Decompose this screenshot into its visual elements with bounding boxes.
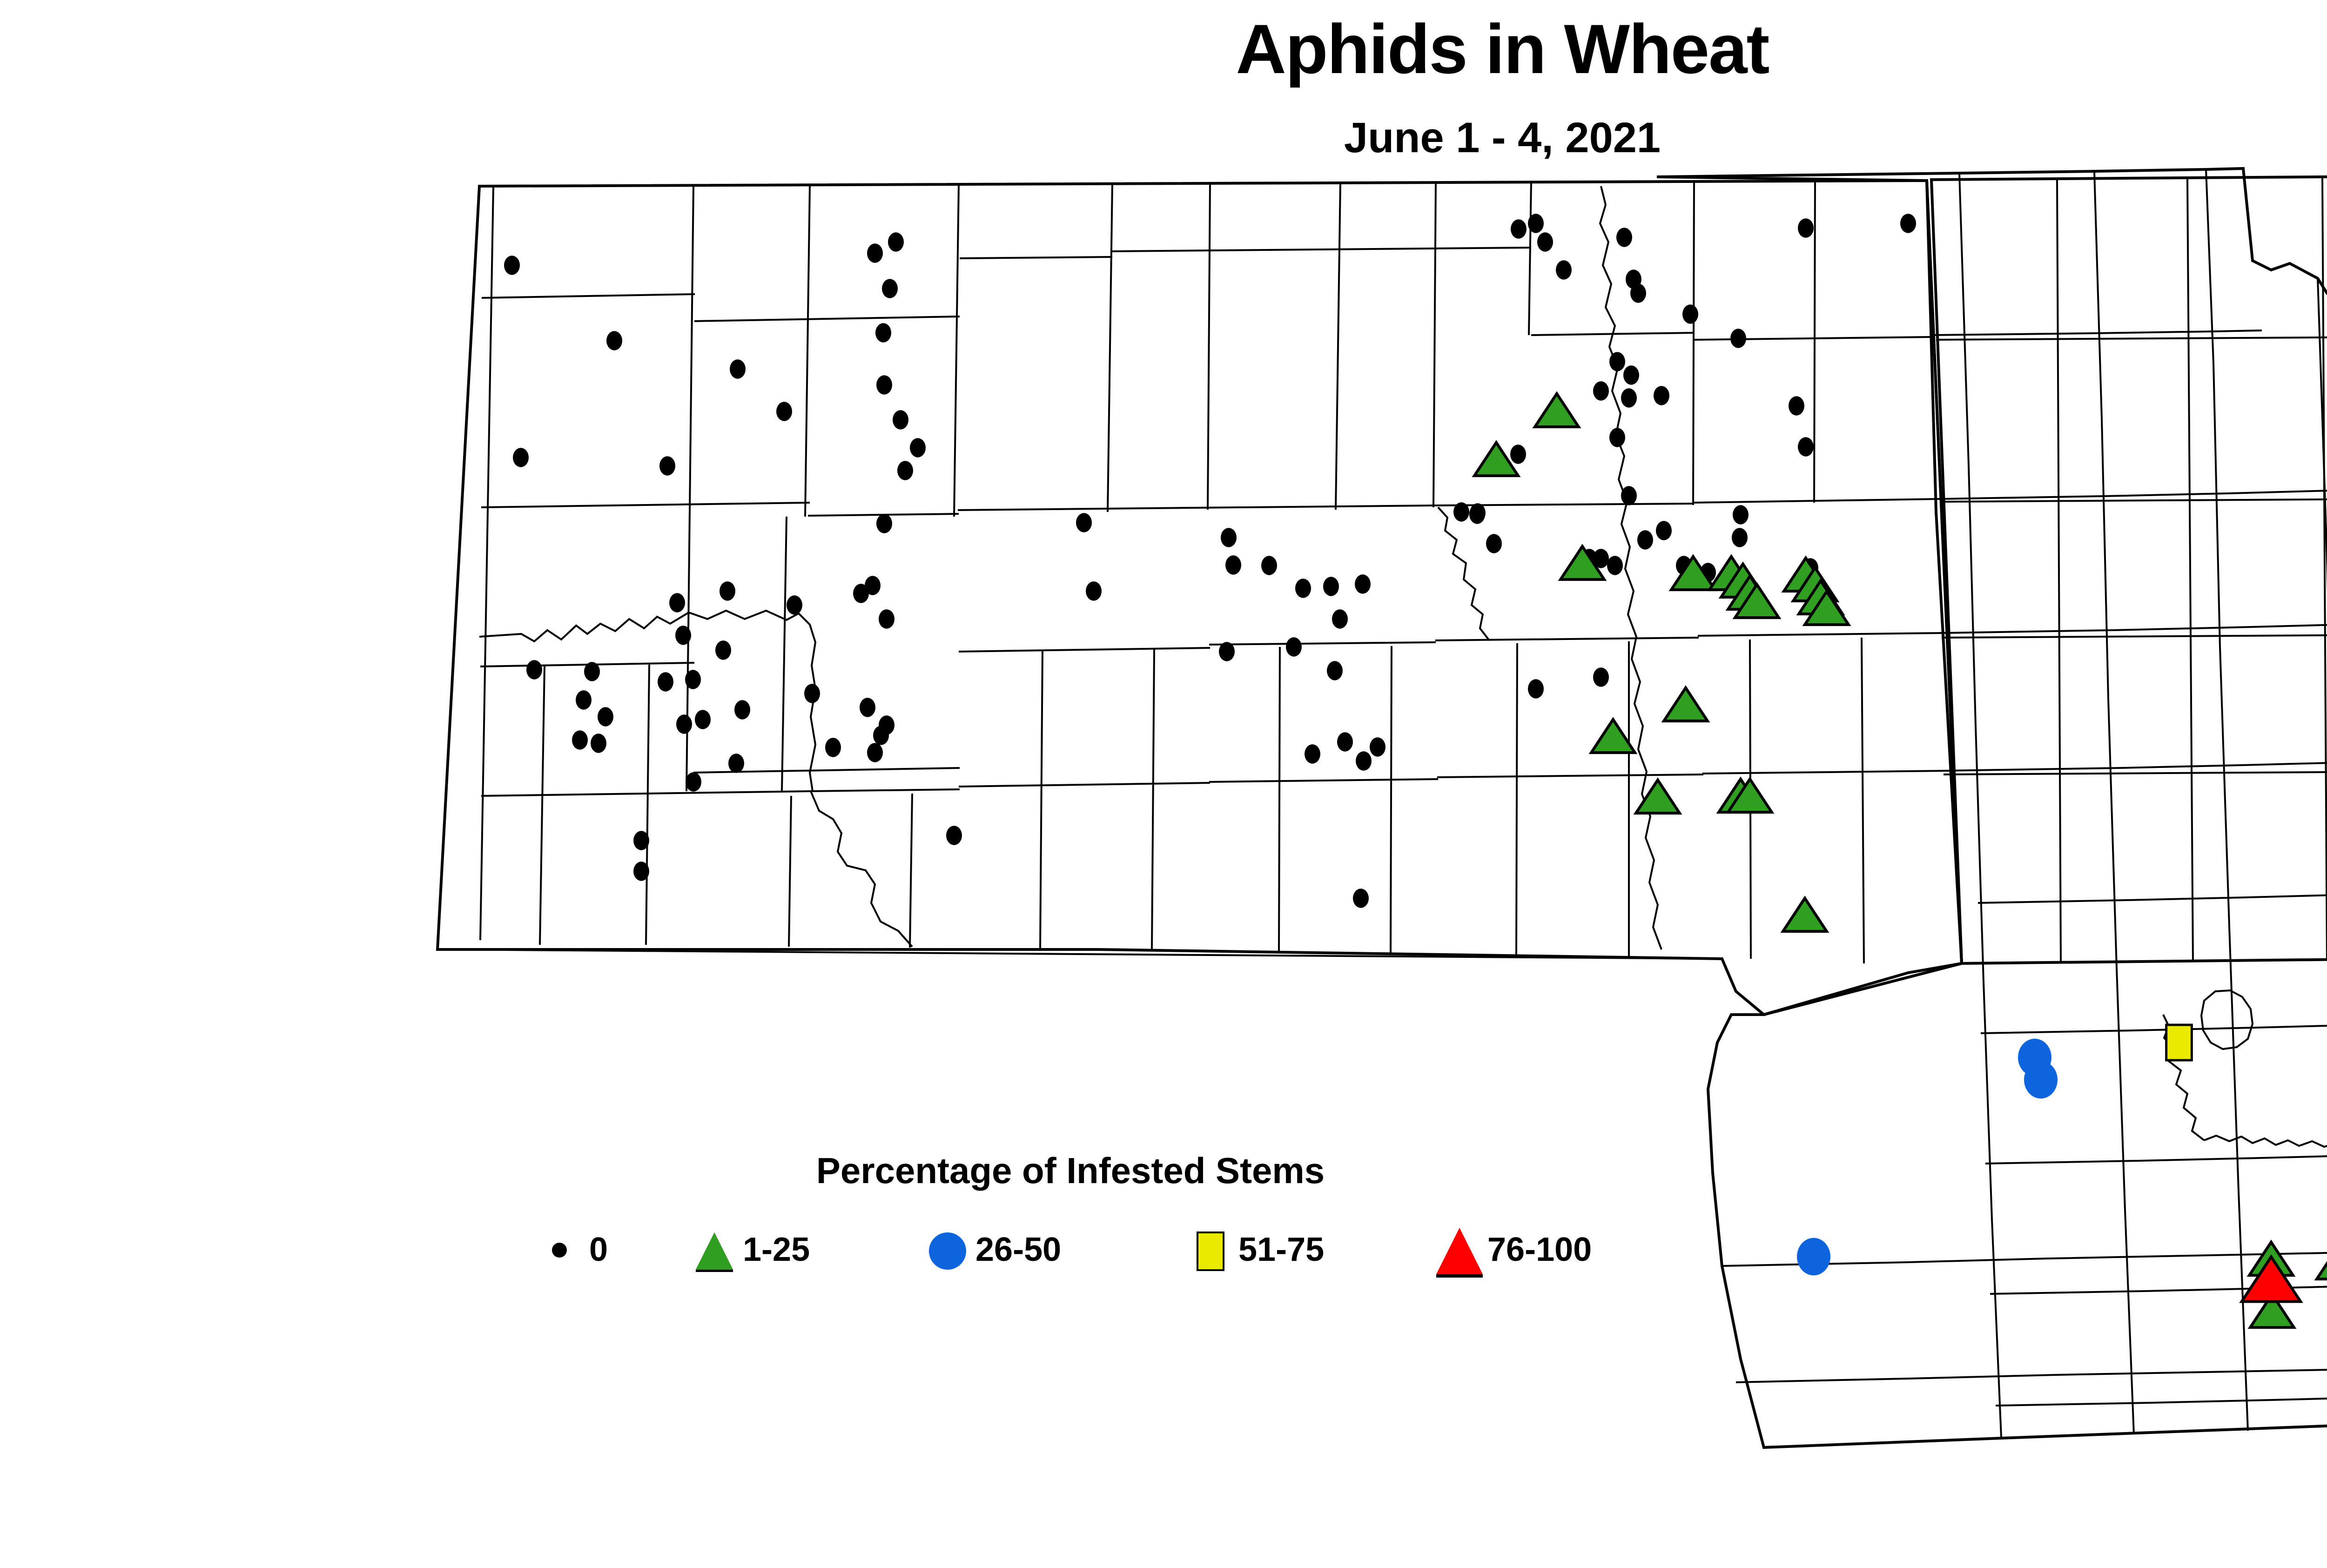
legend-label-3: 51-75: [1238, 1231, 1324, 1269]
map-canvas: [0, 0, 2327, 1568]
map-point-0: [675, 626, 691, 645]
map-point-0: [1537, 232, 1553, 251]
map-page: Aphids in Wheat June 1 - 4, 2021: [0, 0, 2327, 1568]
map-point-0: [1225, 555, 1241, 574]
map-point-26-50: [1797, 1238, 1830, 1276]
map-point-0: [897, 461, 913, 480]
map-point-0: [598, 707, 613, 726]
map-point-0: [1221, 528, 1237, 547]
map-point-0: [1621, 388, 1637, 407]
legend-item-4[interactable]: 76-100: [1433, 1219, 1592, 1280]
map-point-0: [1654, 386, 1669, 405]
map-point-0: [606, 331, 622, 350]
legend-title: Percentage of Infested Stems: [535, 1150, 1606, 1192]
map-point-0: [860, 698, 875, 717]
map-point-0: [1332, 609, 1348, 628]
map-point-1-25: [1535, 394, 1579, 427]
map-point-0: [1682, 304, 1698, 323]
map-point-0: [504, 256, 520, 275]
map-point-0: [1086, 581, 1102, 600]
map-point-0: [853, 584, 869, 603]
map-point-0: [734, 700, 750, 719]
red-triangle-icon: [1433, 1224, 1485, 1275]
legend-item-0[interactable]: 0: [535, 1219, 608, 1280]
legend-items-row: 0 1-25 26-50 51-75 76-100: [535, 1219, 1606, 1280]
legend-label-2: 26-50: [975, 1231, 1061, 1269]
map-point-0: [876, 514, 892, 533]
map-point-0: [1219, 642, 1235, 661]
map-point-0: [584, 662, 600, 681]
map-point-0: [730, 359, 746, 378]
legend-item-1[interactable]: 1-25: [689, 1219, 810, 1280]
map-point-0: [1356, 751, 1372, 770]
map-point-0: [1732, 528, 1748, 547]
map-point-0: [715, 640, 731, 660]
map-point-0: [879, 609, 894, 628]
map-point-1-25: [1783, 898, 1827, 931]
map-point-0: [1616, 228, 1632, 247]
map-point-0: [513, 448, 529, 467]
map-point-0: [804, 684, 820, 703]
map-point-0: [1798, 437, 1814, 456]
map-point-0: [591, 734, 606, 753]
map-point-0: [1621, 486, 1637, 505]
map-point-0: [1637, 530, 1653, 549]
map-point-0: [720, 581, 735, 600]
map-point-0: [1327, 661, 1343, 680]
map-point-0: [893, 410, 908, 429]
map-point-0: [1511, 219, 1527, 238]
legend-label-1: 1-25: [743, 1231, 810, 1269]
map-point-0: [669, 593, 685, 612]
map-point-0: [1286, 637, 1302, 656]
map-point-0: [526, 660, 542, 679]
map-point-0: [910, 438, 926, 457]
map-point-0: [686, 772, 701, 791]
map-point-0: [1556, 260, 1572, 279]
map-point-0: [1593, 381, 1609, 400]
map-point-0: [1733, 505, 1749, 524]
map-point-76-100: [2242, 1257, 2300, 1301]
map-point-0: [659, 456, 675, 475]
green-triangle-icon: [689, 1224, 740, 1275]
map-point-0: [1798, 218, 1814, 237]
legend-item-2[interactable]: 26-50: [921, 1219, 1061, 1280]
map-point-0: [1370, 737, 1385, 756]
map-point-0: [825, 738, 841, 757]
map-point-0: [633, 831, 649, 850]
map-point-0: [676, 714, 692, 734]
map-point-0: [1353, 888, 1369, 908]
map-point-0: [1355, 574, 1371, 593]
map-point-0: [1609, 352, 1625, 371]
map-point-0: [572, 730, 588, 749]
map-point-0: [1593, 667, 1609, 686]
map-point-0: [776, 402, 792, 421]
yellow-square-icon: [1184, 1224, 1236, 1275]
map-point-0: [1510, 444, 1526, 464]
map-point-0: [633, 861, 649, 881]
map-point-0: [946, 826, 962, 845]
legend: Percentage of Infested Stems 0 1-25 26-5…: [535, 1150, 1606, 1280]
map-point-0: [1470, 503, 1486, 522]
map-point-0: [1295, 579, 1311, 598]
map-point-0: [1789, 396, 1804, 415]
map-point-1-25: [1664, 688, 1708, 721]
map-point-0: [1337, 732, 1353, 751]
map-point-0: [1528, 679, 1544, 698]
legend-label-4: 76-100: [1487, 1231, 1592, 1269]
map-point-0: [1528, 214, 1544, 233]
map-point-0: [1900, 214, 1916, 233]
map-point-0: [1656, 521, 1672, 540]
black-dot-icon: [535, 1224, 586, 1275]
map-point-0: [1486, 534, 1502, 553]
map-point-0: [875, 323, 891, 342]
map-point-0: [1730, 329, 1746, 348]
map-point-0: [873, 726, 889, 745]
map-svg: [0, 0, 2327, 1568]
map-point-0: [867, 243, 883, 262]
map-point-0: [1305, 744, 1320, 763]
map-point-0: [695, 710, 711, 729]
blue-circle-icon: [921, 1224, 973, 1275]
map-point-0: [1453, 502, 1469, 521]
map-point-0: [1630, 283, 1646, 303]
legend-item-3[interactable]: 51-75: [1184, 1219, 1324, 1280]
map-point-0: [888, 232, 904, 251]
map-point-0: [728, 754, 744, 773]
map-point-0: [787, 595, 802, 614]
map-point-0: [882, 279, 898, 298]
map-point-0: [1076, 513, 1092, 532]
map-point-0: [876, 375, 892, 394]
legend-label-0: 0: [589, 1231, 608, 1269]
map-point-0: [1607, 556, 1623, 575]
map-point-1-25: [2317, 1246, 2327, 1279]
map-point-26-50: [2024, 1061, 2058, 1099]
map-point-0: [1609, 428, 1625, 447]
map-point-0: [576, 690, 592, 709]
map-point-0: [1323, 577, 1339, 596]
map-point-0: [867, 743, 883, 762]
map-point-0: [1261, 556, 1277, 575]
map-point-0: [658, 672, 673, 691]
map-point-0: [685, 670, 701, 689]
map-point-0: [1623, 365, 1639, 384]
map-point-51-75: [2166, 1025, 2192, 1060]
